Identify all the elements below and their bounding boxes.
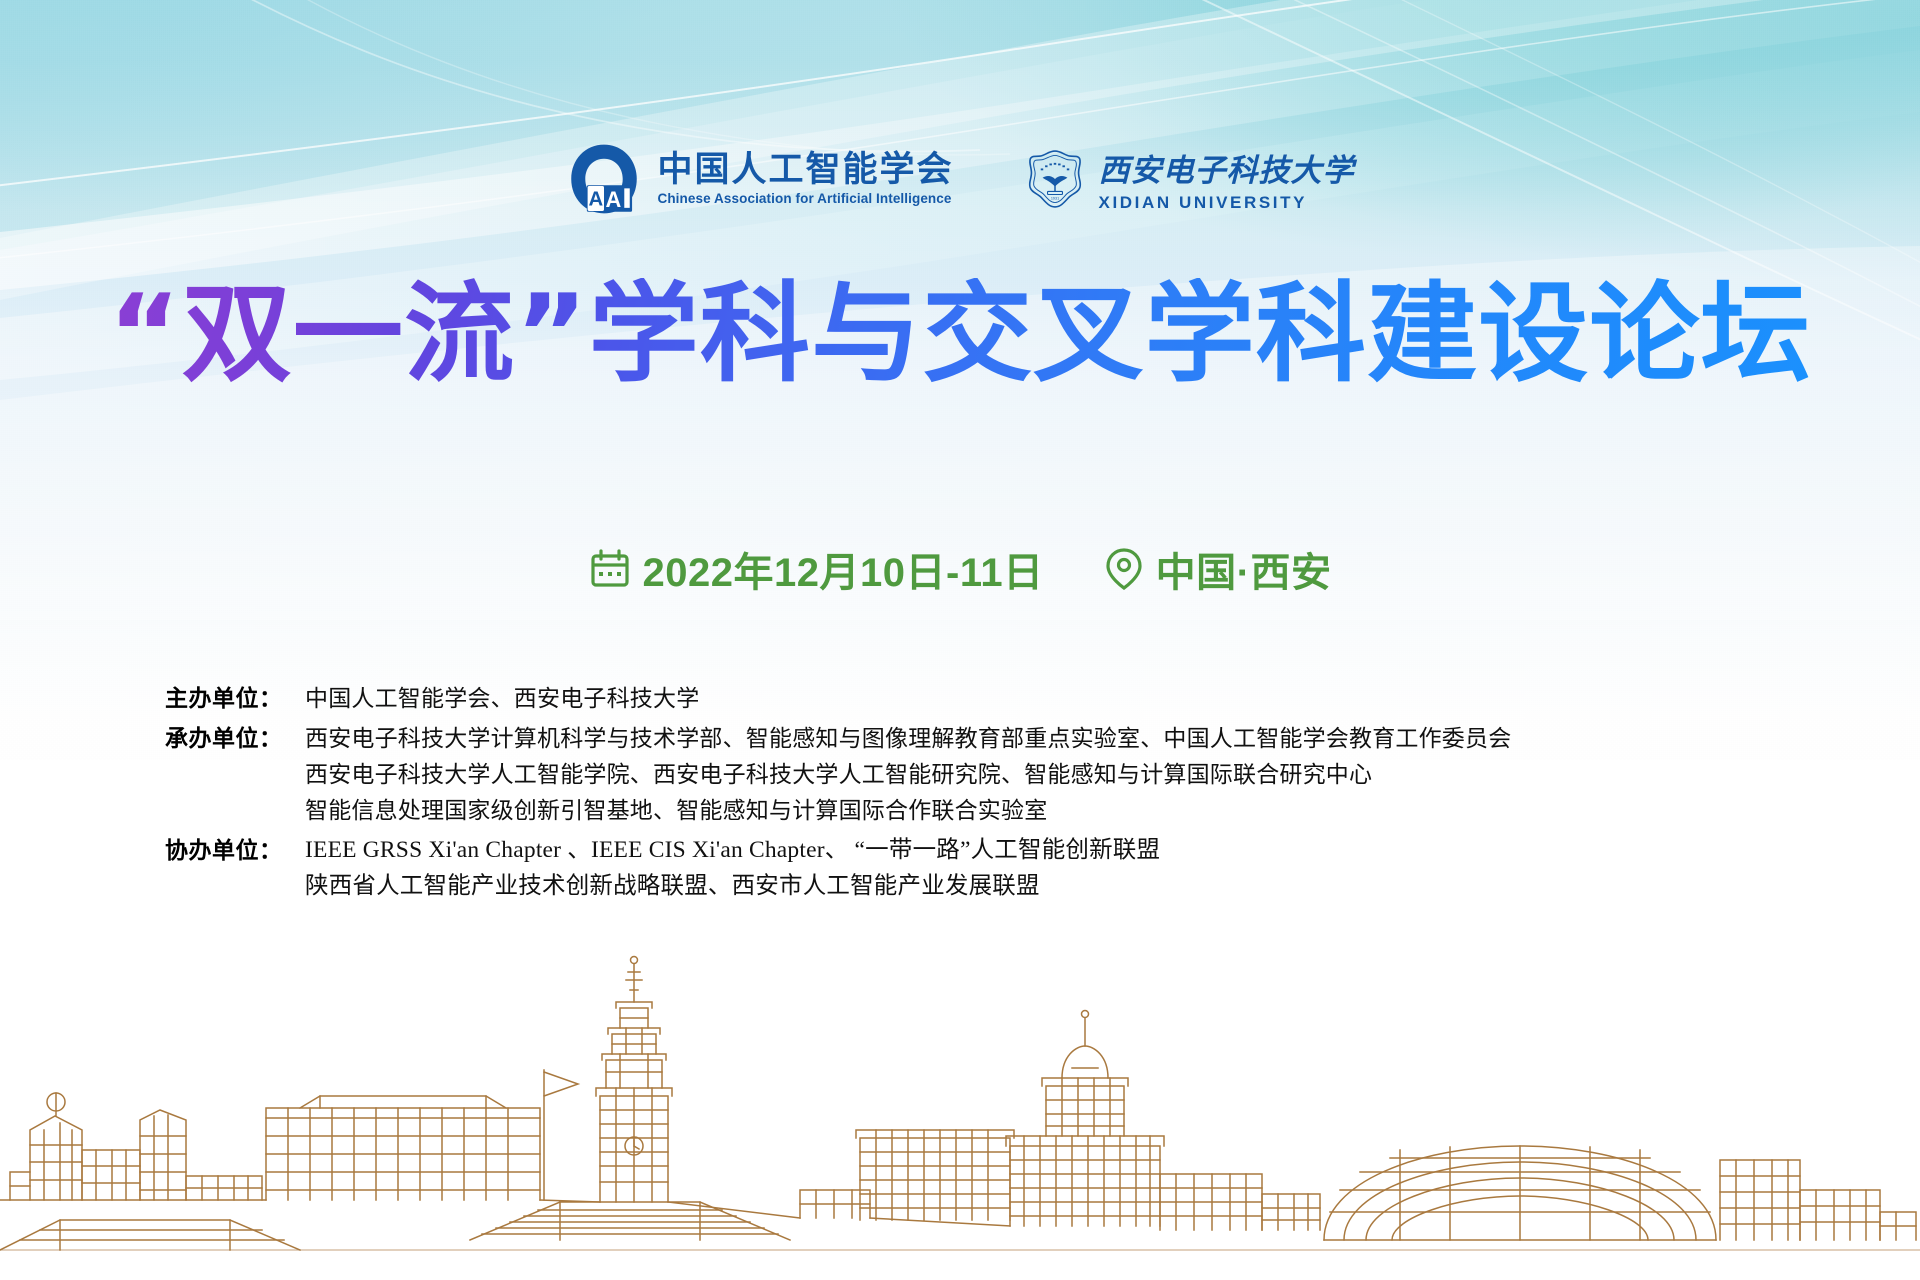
page-title: “双一流”学科与交叉学科建设论坛 — [108, 278, 1811, 391]
skyline-low-strip-left — [186, 1176, 262, 1200]
caai-emblem-icon: A A — [565, 140, 643, 218]
organizer-line: 陕西省人工智能产业技术创新战略联盟、西安市人工智能产业发展联盟 — [305, 868, 1785, 904]
caai-name-cn: 中国人工智能学会 — [657, 152, 953, 189]
organizer-line: 智能信息处理国家级创新引智基地、智能感知与计算国际合作联合实验室 — [305, 792, 1785, 828]
skyline-right-mid-blocks — [1160, 1174, 1320, 1230]
event-date-text: 2022年12月10日-11日 — [643, 540, 1044, 598]
event-date: 2022年12月10日-11日 — [589, 540, 1044, 598]
caai-logo: A A 中国人工智能学会 Chinese Association for Art… — [565, 140, 953, 218]
organizer-line: 西安电子科技大学计算机科学与技术学部、智能感知与图像理解教育部重点实验室、中国人… — [305, 720, 1785, 756]
organizer-block-undertaker: 承办单位： 西安电子科技大学计算机科学与技术学部、智能感知与图像理解教育部重点实… — [165, 720, 1785, 828]
skyline-main-hall — [1006, 1011, 1164, 1227]
svg-text:1931: 1931 — [1050, 196, 1058, 200]
organizer-label-coorganizer: 协办单位： — [165, 832, 305, 868]
xidian-name-cn: 西安电子科技大学 — [1099, 145, 1355, 190]
organizer-block-coorganizer: 协办单位： IEEE GRSS Xi'an Chapter 、IEEE CIS … — [165, 832, 1785, 904]
event-location-text: 中国·西安 — [1156, 540, 1332, 598]
event-location: 中国·西安 — [1104, 540, 1332, 598]
title-container: “双一流”学科与交叉学科建设论坛 — [0, 278, 1920, 391]
xidian-logo: 1931 西安电子科技大学 XIDIAN UNIVERSITY — [1024, 145, 1355, 213]
logo-row: A A 中国人工智能学会 Chinese Association for Art… — [0, 140, 1920, 218]
skyline-bell-tower-complex — [266, 1096, 540, 1200]
caai-name-en: Chinese Association for Artificial Intel… — [657, 191, 953, 206]
skyline-central-plaza — [470, 1202, 790, 1240]
skyline-right-tower — [1720, 1160, 1916, 1240]
conference-poster: A A 中国人工智能学会 Chinese Association for Art… — [0, 0, 1920, 1280]
xidian-emblem-icon: 1931 — [1024, 148, 1086, 210]
skyline-central-pagoda-tower — [596, 957, 672, 1203]
organizer-block-host: 主办单位： 中国人工智能学会、西安电子科技大学 — [165, 680, 1785, 716]
skyline-building-left-modern — [10, 1093, 186, 1200]
organizers-section: 主办单位： 中国人工智能学会、西安电子科技大学 承办单位： 西安电子科技大学计算… — [165, 680, 1785, 908]
organizer-line: 中国人工智能学会、西安电子科技大学 — [305, 680, 1785, 716]
location-pin-icon — [1104, 547, 1144, 591]
skyline-foreground-terrace — [0, 1220, 300, 1250]
organizer-line: IEEE GRSS Xi'an Chapter 、IEEE CIS Xi'an … — [305, 832, 1785, 868]
organizer-label-undertaker: 承办单位： — [165, 720, 305, 756]
event-meta-row: 2022年12月10日-11日 中国·西安 — [0, 540, 1920, 598]
organizer-label-host: 主办单位： — [165, 680, 305, 716]
xidian-name-en: XIDIAN UNIVERSITY — [1099, 193, 1308, 213]
skyline-flagpole — [544, 1070, 578, 1200]
svg-text:A: A — [589, 189, 604, 211]
svg-text:A: A — [606, 187, 622, 212]
xian-city-skyline-line-art — [0, 950, 1920, 1280]
skyline-classical-building — [856, 1130, 1014, 1220]
organizer-line: 西安电子科技大学人工智能学院、西安电子科技大学人工智能研究院、智能感知与计算国际… — [305, 756, 1785, 792]
skyline-shell-stadium — [1324, 1146, 1716, 1240]
calendar-icon — [589, 548, 631, 590]
